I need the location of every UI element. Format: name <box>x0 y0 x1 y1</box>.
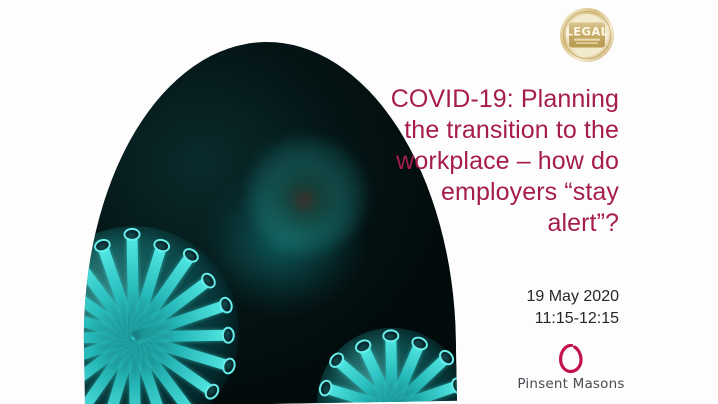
teardrop-icon <box>558 344 584 374</box>
logo-wordmark: Pinsent Masons <box>506 376 636 392</box>
virion-large-left <box>79 225 241 404</box>
title-line: employers “stay <box>319 177 619 208</box>
slide-title: COVID-19: Planning the transition to the… <box>319 84 619 239</box>
award-seal-label: LEGAL <box>566 25 609 39</box>
event-datetime: 19 May 2020 11:15-12:15 <box>319 286 619 330</box>
title-line: the transition to the <box>319 115 619 146</box>
event-time: 11:15-12:15 <box>319 308 619 330</box>
virion-bottom-right <box>316 327 457 404</box>
title-line: workplace – how do <box>319 146 619 177</box>
legal-award-seal-icon: LEGAL <box>559 7 615 63</box>
webinar-title-slide: COVID-19: Planning the transition to the… <box>0 0 718 404</box>
title-line: COVID-19: Planning <box>319 84 619 115</box>
pinsent-masons-logo: Pinsent Masons <box>506 344 636 392</box>
title-line: alert”? <box>319 208 619 239</box>
event-date: 19 May 2020 <box>319 286 619 308</box>
